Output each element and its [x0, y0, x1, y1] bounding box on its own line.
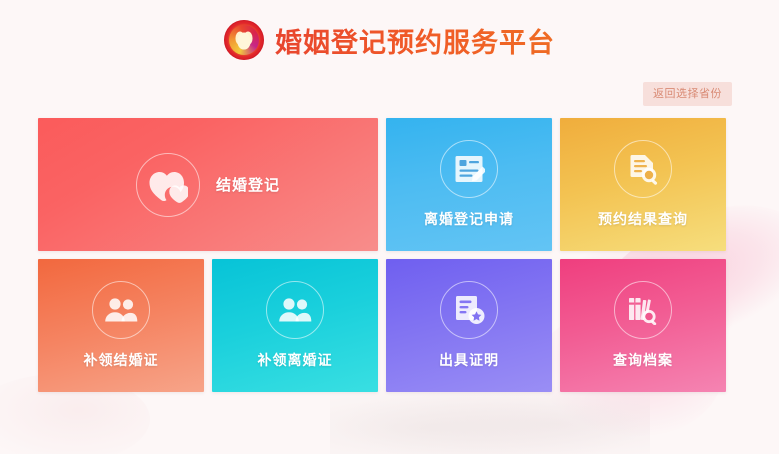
service-card-reissue-marriage-certificate[interactable]: 补领结婚证 [38, 259, 204, 392]
service-card-label: 预约结果查询 [598, 209, 688, 229]
service-card-label: 补领结婚证 [84, 350, 159, 370]
return-select-province-button[interactable]: 返回选择省份 [643, 82, 732, 106]
document-pen-icon [440, 140, 498, 198]
archive-search-icon [614, 281, 672, 339]
service-card-label: 补领离婚证 [258, 350, 333, 370]
service-card-reissue-divorce-certificate[interactable]: 补领离婚证 [212, 259, 378, 392]
service-card-label: 查询档案 [613, 350, 673, 370]
document-search-icon [614, 140, 672, 198]
page-header: 婚姻登记预约服务平台 [0, 0, 779, 80]
service-card-archive-query[interactable]: 查询档案 [560, 259, 726, 392]
two-people-icon [92, 281, 150, 339]
service-card-divorce-registration-application[interactable]: 离婚登记申请 [386, 118, 552, 251]
marriage-registry-emblem-icon [224, 20, 264, 60]
service-card-label: 出具证明 [439, 350, 499, 370]
service-card-marriage-registration[interactable]: 结婚登记 [38, 118, 378, 251]
double-heart-icon [136, 153, 200, 217]
service-card-label: 结婚登记 [216, 174, 280, 195]
service-card-appointment-result-query[interactable]: 预约结果查询 [560, 118, 726, 251]
service-card-label: 离婚登记申请 [424, 209, 514, 229]
service-card-grid: 结婚登记离婚登记申请预约结果查询补领结婚证补领离婚证出具证明查询档案 [38, 118, 726, 392]
service-card-issue-certificate[interactable]: 出具证明 [386, 259, 552, 392]
province-button-row: 返回选择省份 [0, 80, 779, 108]
two-people-icon [266, 281, 324, 339]
certificate-seal-icon [440, 281, 498, 339]
page-title: 婚姻登记预约服务平台 [275, 21, 555, 60]
